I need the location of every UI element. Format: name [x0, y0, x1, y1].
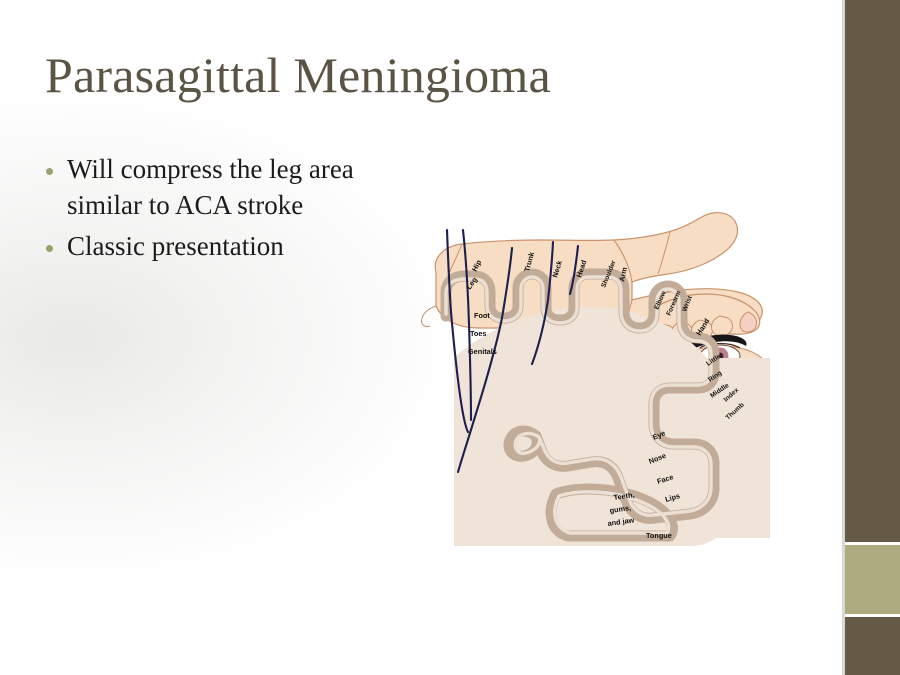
sidebar-bar-olive — [845, 545, 900, 617]
label-pharynx: Pharynx — [632, 547, 661, 548]
list-item: Will compress the leg area similar to AC… — [46, 152, 406, 223]
sidebar-bar-dark-top — [845, 0, 900, 545]
label-tongue: Tongue — [646, 531, 672, 540]
bullet-dot-icon — [46, 168, 53, 175]
bullet-list: Will compress the leg area similar to AC… — [46, 152, 406, 271]
presentation-slide: Parasagittal Meningioma Will compress th… — [0, 0, 900, 675]
page-title: Parasagittal Meningioma — [45, 46, 551, 104]
sidebar-bar-dark-bottom — [845, 617, 900, 675]
bullet-dot-icon — [46, 245, 53, 252]
sensory-homunculus-figure: Hip Leg Trunk Neck Head Shoulder Arm Elb… — [418, 196, 770, 548]
list-item: Classic presentation — [46, 229, 406, 265]
slide-decoration-sidebar — [845, 0, 900, 675]
label-genitals: Genitals — [468, 347, 497, 356]
label-toes: Toes — [470, 329, 487, 338]
bullet-text: Classic presentation — [67, 229, 284, 265]
label-foot: Foot — [474, 311, 490, 320]
bullet-text: Will compress the leg area similar to AC… — [67, 152, 406, 223]
